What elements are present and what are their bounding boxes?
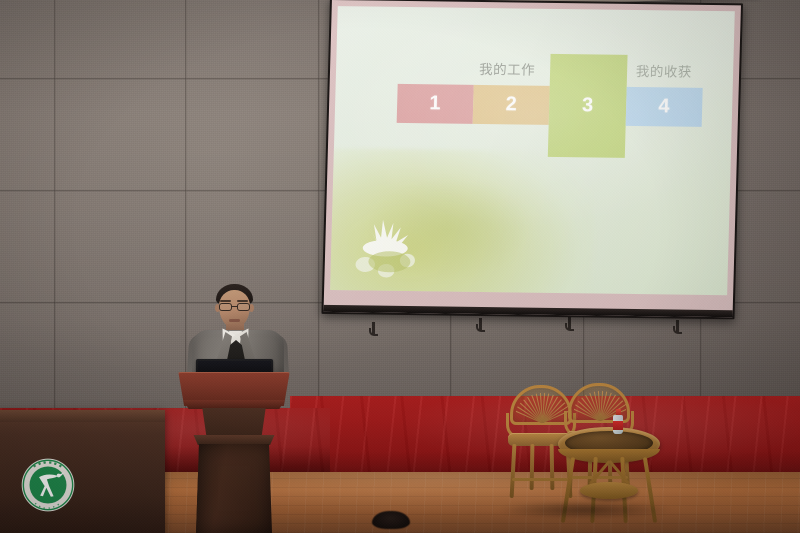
slide-label-2: 我的工作 [479,58,536,79]
rattan-furniture-set [500,383,660,523]
glasses-lens-left [219,303,232,311]
slide-step-bar: 1 2 3 4 [396,84,691,128]
speaker-mouth [229,319,240,322]
slide-step-4: 4 [625,87,702,128]
speaker-eyebrow-left [220,300,231,302]
wall-hook [676,320,679,333]
presentation-slide: 我的工作 我的感受 我的收获 1 2 3 4 [330,6,734,295]
speaker-eyebrow-right [237,300,248,302]
glasses-lens-right [237,303,250,311]
slide-label-4: 我的收获 [636,60,693,81]
furniture-shadow [500,501,670,519]
water-bottle [613,409,623,434]
slide-step-3: 3 [548,54,627,158]
wall-hook [372,322,375,335]
slide-step-1: 1 [396,84,473,125]
wall-hook [479,318,482,331]
projection-screen: 我的工作 我的感受 我的收获 1 2 3 4 [321,0,743,319]
screen-matte-surface: 我的工作 我的感受 我的收获 1 2 3 4 [324,0,741,317]
slide-step-2: 2 [473,85,550,126]
institution-emblem [20,457,76,513]
side-table-top [0,410,165,422]
wooden-lectern [176,372,292,533]
lectern-collar [190,435,278,445]
eyeglasses-icon [218,303,251,312]
glasses-bridge [232,306,237,307]
bottle-label [613,421,623,430]
lotus-flower-icon [342,207,434,280]
wall-hook [568,317,571,330]
lectern-neck [198,408,270,438]
dark-bag-on-floor [372,511,410,529]
screen-frame: 我的工作 我的感受 我的收获 1 2 3 4 [321,0,743,319]
table-lower-shelf [580,482,638,499]
lectern-body [196,444,272,533]
conference-hall-photo: 我的工作 我的感受 我的收获 1 2 3 4 [0,0,800,533]
lectern-lip [180,400,288,409]
